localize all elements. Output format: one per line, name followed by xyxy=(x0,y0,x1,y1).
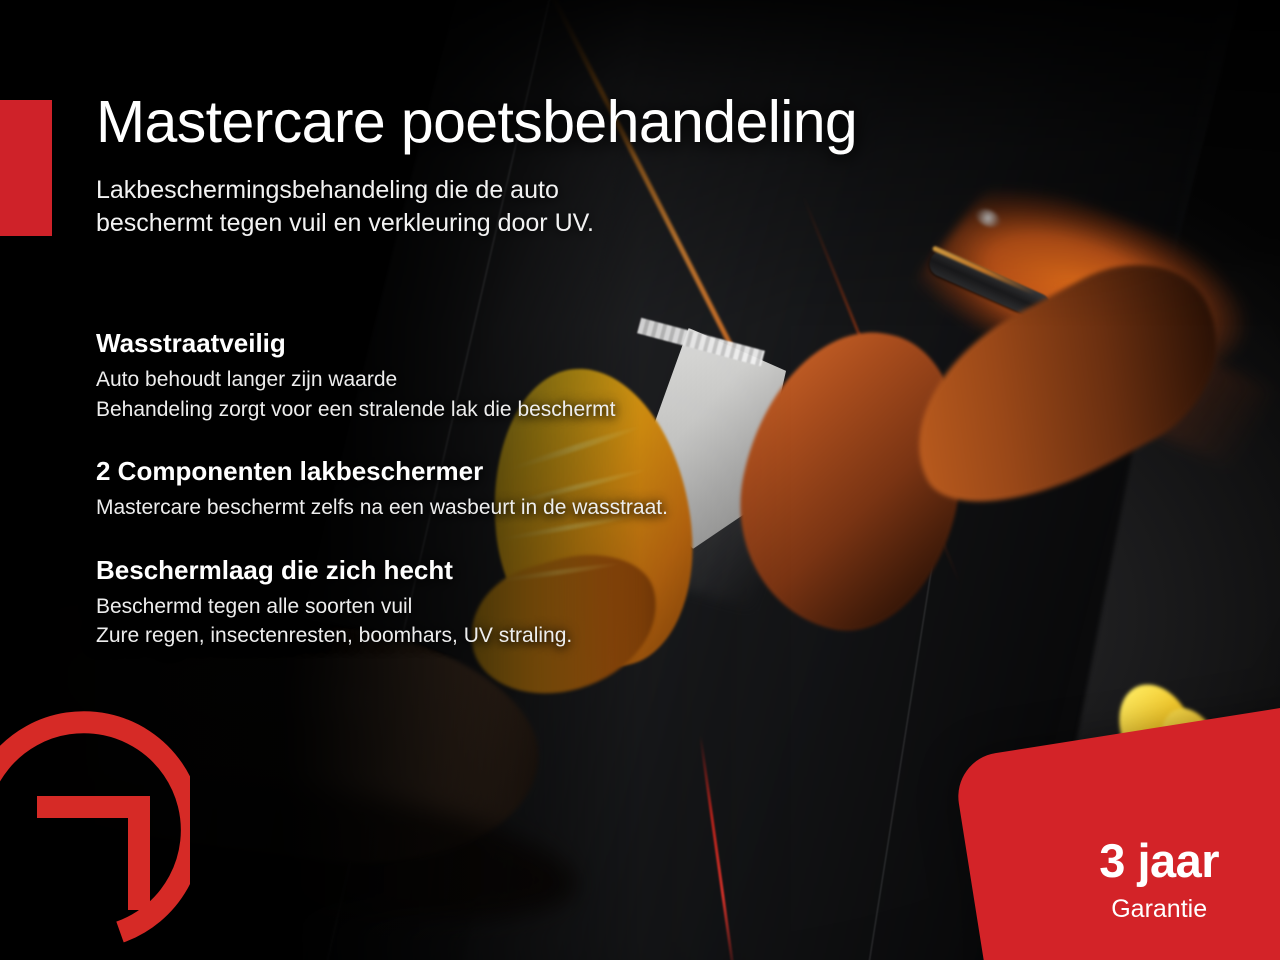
promo-poster: 3 jaar Garantie Mastercare poetsbehandel… xyxy=(0,0,1280,960)
subtitle-line-1: Lakbeschermingsbehandeling die de auto xyxy=(96,174,594,207)
feature-item: 2 Componenten lakbeschermer Mastercare b… xyxy=(96,456,816,523)
subtitle-line-2: beschermt tegen vuil en verkleuring door… xyxy=(96,207,594,240)
feature-heading: Wasstraatveilig xyxy=(96,328,816,360)
content-layer: Mastercare poetsbehandeling Lakbeschermi… xyxy=(0,0,1280,960)
feature-line: Auto behoudt langer zijn waarde xyxy=(96,365,816,395)
page-subtitle: Lakbeschermingsbehandeling die de auto b… xyxy=(96,174,594,240)
feature-heading: Beschermlaag die zich hecht xyxy=(96,555,816,587)
feature-line: Behandeling zorgt voor een stralende lak… xyxy=(96,395,816,425)
feature-line: Mastercare beschermt zelfs na een wasbeu… xyxy=(96,493,816,523)
feature-item: Beschermlaag die zich hecht Beschermd te… xyxy=(96,555,816,651)
feature-heading: 2 Componenten lakbeschermer xyxy=(96,456,816,488)
page-title: Mastercare poetsbehandeling xyxy=(96,92,857,154)
feature-line: Beschermd tegen alle soorten vuil xyxy=(96,592,816,622)
feature-item: Wasstraatveilig Auto behoudt langer zijn… xyxy=(96,328,816,424)
feature-list: Wasstraatveilig Auto behoudt langer zijn… xyxy=(96,328,816,651)
feature-line: Zure regen, insectenresten, boomhars, UV… xyxy=(96,621,816,651)
